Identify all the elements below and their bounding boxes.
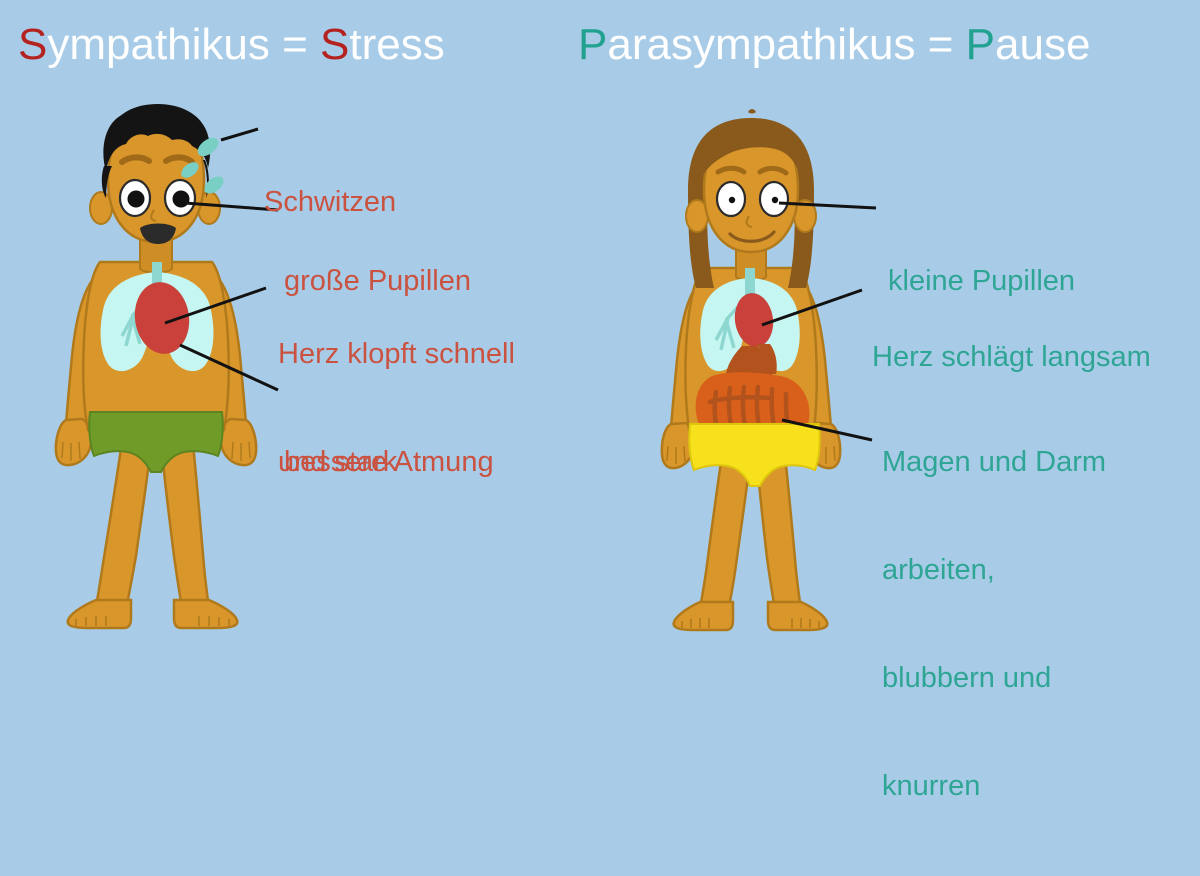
girl-pupil-left-small xyxy=(729,197,735,203)
label-magen-darm: Magen und Darm arbeiten, blubbern und kn… xyxy=(882,372,1106,876)
title-initial-p2: P xyxy=(966,20,995,69)
page-title-parasympathetic: Parasympathikus = Pause xyxy=(578,20,1090,70)
boy-figure xyxy=(56,104,278,628)
label-magen-darm-line-2: arbeiten, xyxy=(882,552,1106,588)
boy-underwear xyxy=(89,412,223,472)
title-rest-stress: tress xyxy=(349,20,444,69)
title-initial-s2: S xyxy=(320,20,349,69)
girl-figure xyxy=(662,109,876,630)
title-initial-p: P xyxy=(578,20,607,69)
title-initial-s: S xyxy=(18,20,47,69)
page-title-sympathetic: Sympathikus = Stress xyxy=(18,20,445,70)
label-bessere-atmung: bessere Atmung xyxy=(284,372,494,552)
girl-underwear xyxy=(689,424,820,486)
title-rest-sympathikus: ympathikus = xyxy=(47,20,320,69)
title-rest-pause: ause xyxy=(995,20,1090,69)
leader-schwitzen xyxy=(221,129,258,140)
boy-head xyxy=(90,104,220,244)
label-bessere-atmung-line-1: bessere Atmung xyxy=(284,444,494,480)
girl-pupil-right-small xyxy=(772,197,778,203)
boy-pupil-left-large xyxy=(128,191,145,208)
label-herz-schlaegt-line-1: Herz schlägt langsam xyxy=(872,339,1151,375)
label-herz-klopft-line-1: Herz klopft schnell xyxy=(278,336,515,372)
diagram-canvas: Sympathikus = Stress Parasympathikus = P… xyxy=(0,0,1200,647)
label-magen-darm-line-1: Magen und Darm xyxy=(882,444,1106,480)
label-magen-darm-line-3: blubbern und xyxy=(882,660,1106,696)
label-magen-darm-line-4: knurren xyxy=(882,768,1106,804)
boy-pupil-right-large xyxy=(173,191,190,208)
title-rest-parasympathikus: arasympathikus = xyxy=(607,20,965,69)
